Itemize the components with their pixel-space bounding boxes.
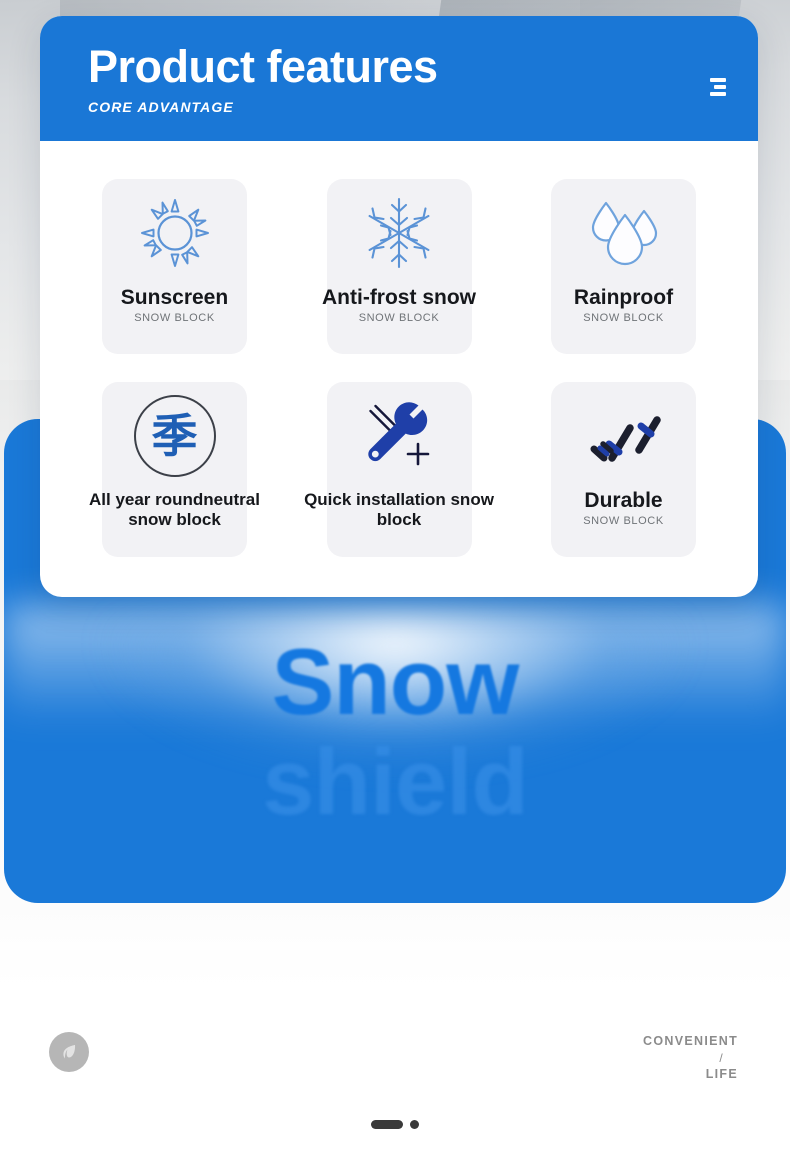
product-features-card: Product features CORE ADVANTAGE: [40, 16, 758, 597]
tile-title: Durable: [519, 490, 728, 512]
tile-title: Quick installation snow block: [295, 490, 504, 530]
feature-tile-anti-frost-snow[interactable]: Anti-frost snow SNOW BLOCK: [327, 179, 472, 354]
feature-tile-quick-installation[interactable]: Quick installation snow block: [327, 382, 472, 557]
hamburger-menu-icon[interactable]: [706, 78, 726, 96]
tile-text: Durable SNOW BLOCK: [519, 490, 728, 527]
tile-text: Sunscreen SNOW BLOCK: [70, 287, 279, 324]
wrench-screwdriver-icon: [356, 382, 442, 490]
menu-bar-2: [714, 85, 726, 89]
footer-tagline: CONVENIENT / LIFE: [643, 1033, 738, 1083]
pagination-active-bar[interactable]: [371, 1120, 403, 1129]
tagline-top: CONVENIENT: [643, 1034, 738, 1048]
tile-title: Sunscreen: [70, 287, 279, 309]
feature-tile-rainproof[interactable]: Rainproof SNOW BLOCK: [551, 179, 696, 354]
feature-tile-sunscreen[interactable]: Sunscreen SNOW BLOCK: [102, 179, 247, 354]
sun-icon: [136, 179, 214, 287]
page-subtitle: CORE ADVANTAGE: [88, 99, 724, 115]
feature-tile-durable[interactable]: Durable SNOW BLOCK: [551, 382, 696, 557]
tile-text: Rainproof SNOW BLOCK: [519, 287, 728, 324]
tile-subtitle: SNOW BLOCK: [519, 312, 728, 324]
tagline-slash: /: [629, 1050, 724, 1066]
menu-bar-3: [710, 92, 726, 96]
page-title: Product features: [88, 44, 724, 89]
durable-bars-icon: [581, 382, 667, 490]
pagination-indicator[interactable]: [0, 1120, 790, 1129]
snowflake-icon: [358, 179, 440, 287]
feature-tile-all-year-round[interactable]: 季 All year roundneutral snow block: [102, 382, 247, 557]
tile-text: Anti-frost snow SNOW BLOCK: [295, 287, 504, 324]
card-header: Product features CORE ADVANTAGE: [40, 16, 758, 141]
tagline-bottom: LIFE: [706, 1067, 738, 1081]
card-body: Sunscreen SNOW BLOCK: [40, 141, 758, 597]
tile-subtitle: SNOW BLOCK: [295, 312, 504, 324]
tile-text: All year roundneutral snow block: [70, 490, 279, 530]
hero-glow: [75, 614, 715, 903]
tile-title: All year roundneutral snow block: [70, 490, 279, 530]
water-drops-icon: [582, 179, 666, 287]
tile-title: Rainproof: [519, 287, 728, 309]
pagination-dot[interactable]: [410, 1120, 419, 1129]
menu-bar-1: [710, 78, 726, 82]
leaf-logo-icon: [49, 1032, 89, 1072]
tile-title: Anti-frost snow: [295, 287, 504, 309]
tile-subtitle: SNOW BLOCK: [70, 312, 279, 324]
tile-text: Quick installation snow block: [295, 490, 504, 530]
seal-circle: 季: [134, 395, 216, 477]
season-seal-icon: 季: [134, 382, 216, 490]
feature-grid: Sunscreen SNOW BLOCK: [102, 179, 696, 557]
season-character: 季: [152, 413, 198, 459]
page-root: Snow shield Product features CORE ADVANT…: [0, 0, 790, 1170]
tile-subtitle: SNOW BLOCK: [519, 515, 728, 527]
